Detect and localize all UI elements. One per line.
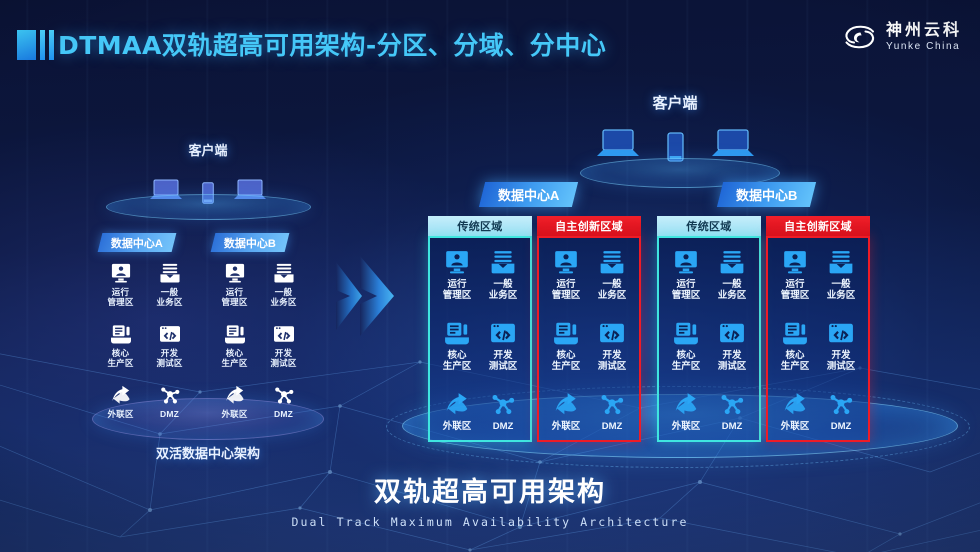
zone-label: 一般业务区 [598,279,627,302]
zone-dev-test[interactable]: 开发测试区 [589,321,635,373]
brand-logo: 神州云科 Yunke China [843,22,962,52]
panel-dc-b-innovation[interactable]: 自主创新区域 运行管理区 一般业务区 核心生产区 开发测试区 [766,216,870,442]
core-server-icon [224,324,246,344]
zone-label: 一般业务区 [827,279,856,302]
code-window-icon [159,324,181,344]
galaxy-swirl-icon [843,22,877,52]
panel-header: 自主创新区域 [766,216,870,236]
left-diagram-caption: 双活数据中心架构 [78,443,338,462]
zone-external[interactable]: 外联区 [434,392,480,432]
ops-monitor-icon [444,250,470,274]
right-dc-tab-b[interactable]: 数据中心B [717,182,817,207]
zone-label: 开发测试区 [489,350,518,373]
zone-label: DMZ [160,409,179,419]
right-dc-tab-a-label: 数据中心A [498,185,559,204]
panel-zone-grid: 运行管理区 一般业务区 核心生产区 开发测试区 外联区 [657,236,761,442]
zone-general-business[interactable]: 一般业务区 [480,250,526,302]
panel-zone-grid: 运行管理区 一般业务区 核心生产区 开发测试区 外联区 [428,236,532,442]
zone-label: 运行管理区 [221,287,247,307]
zone-label: 开发测试区 [156,348,182,368]
right-architecture-diagram: 客户端 数据中心A 数据中心B 传统区域 [400,86,960,506]
zone-dmz[interactable]: DMZ [259,385,308,419]
zone-dev-test[interactable]: 开发测试区 [259,324,308,368]
dmz-node-icon [828,392,854,416]
inbox-stack-icon [490,250,516,274]
zone-core-production[interactable]: 核心生产区 [663,321,709,373]
dmz-node-icon [599,392,625,416]
external-link-icon [673,392,699,416]
page-title: DTMAA双轨超高可用架构-分区、分域、分中心 [58,26,606,62]
left-dc-a-zone-grid: 运行管理区 一般业务区 核心生产区 开发测试区 外联区 DMZ [96,263,194,419]
zone-label: 核心生产区 [552,350,581,373]
zone-external[interactable]: 外联区 [210,385,259,419]
external-link-icon [224,385,246,405]
zone-general-business[interactable]: 一般业务区 [818,250,864,302]
left-architecture-diagram: 客户端 数据中心A 数据中心B [78,108,338,458]
zone-ops-mgmt[interactable]: 运行管理区 [96,263,145,307]
zone-external[interactable]: 外联区 [543,392,589,432]
panel-zone-grid: 运行管理区 一般业务区 核心生产区 开发测试区 外联区 [766,236,870,442]
dmz-node-icon [159,385,181,405]
inbox-stack-icon [599,250,625,274]
zone-label: 核心生产区 [443,350,472,373]
zone-label: DMZ [831,421,852,432]
core-server-icon [110,324,132,344]
core-server-icon [553,321,579,345]
zone-label: 外联区 [443,421,472,432]
zone-label: 外联区 [107,409,133,419]
core-server-icon [782,321,808,345]
bottom-caption: 双轨超高可用架构 Dual Track Maximum Availability… [0,470,980,529]
dmz-node-icon [273,385,295,405]
zone-label: DMZ [493,421,514,432]
core-server-icon [444,321,470,345]
inbox-stack-icon [273,263,295,283]
zone-label: 核心生产区 [107,348,133,368]
zone-label: 一般业务区 [156,287,182,307]
code-window-icon [599,321,625,345]
zone-label: 运行管理区 [443,279,472,302]
zone-general-business[interactable]: 一般业务区 [259,263,308,307]
logo-name-en: Yunke China [886,41,962,52]
right-dc-tab-b-label: 数据中心B [736,185,797,204]
zone-core-production[interactable]: 核心生产区 [210,324,259,368]
dmz-node-icon [719,392,745,416]
zone-label: 开发测试区 [718,350,747,373]
ops-monitor-icon [553,250,579,274]
external-link-icon [782,392,808,416]
left-dc-tab-a-label: 数据中心A [111,235,163,251]
double-chevron-right-icon [330,252,400,340]
zone-dmz[interactable]: DMZ [145,385,194,419]
left-dc-tab-b-label: 数据中心B [224,235,276,251]
zone-label: 一般业务区 [718,279,747,302]
zone-label: 核心生产区 [781,350,810,373]
laptop-icon [595,128,641,162]
zone-external[interactable]: 外联区 [663,392,709,432]
code-window-icon [490,321,516,345]
bottom-title-cn: 双轨超高可用架构 [0,470,980,509]
zone-ops-mgmt[interactable]: 运行管理区 [210,263,259,307]
zone-label: 一般业务区 [270,287,296,307]
ops-monitor-icon [782,250,808,274]
zone-label: 运行管理区 [672,279,701,302]
panel-dc-a-traditional[interactable]: 传统区域 运行管理区 一般业务区 核心生产区 开发测试区 [428,216,532,442]
code-window-icon [828,321,854,345]
header-accent-bars-icon [17,30,54,60]
right-client-label: 客户端 [545,92,805,113]
zone-dmz[interactable]: DMZ [818,392,864,432]
zone-label: 外联区 [221,409,247,419]
right-dc-tab-a[interactable]: 数据中心A [479,182,579,207]
zone-core-production[interactable]: 核心生产区 [96,324,145,368]
panel-dc-a-innovation[interactable]: 自主创新区域 运行管理区 一般业务区 核心生产区 开发测试区 [537,216,641,442]
zone-dmz[interactable]: DMZ [480,392,526,432]
panel-dc-b-traditional[interactable]: 传统区域 运行管理区 一般业务区 核心生产区 开发测试区 [657,216,761,442]
zone-ops-mgmt[interactable]: 运行管理区 [543,250,589,302]
core-server-icon [673,321,699,345]
right-client-devices [545,114,805,162]
panel-header: 自主创新区域 [537,216,641,236]
left-dc-b-zone-grid: 运行管理区 一般业务区 核心生产区 开发测试区 外联区 DMZ [210,263,308,419]
zone-dmz[interactable]: DMZ [589,392,635,432]
left-dc-tab-b[interactable]: 数据中心B [211,233,290,252]
zone-external[interactable]: 外联区 [772,392,818,432]
zone-label: DMZ [274,409,293,419]
zone-ops-mgmt[interactable]: 运行管理区 [663,250,709,302]
zone-dev-test[interactable]: 开发测试区 [480,321,526,373]
zone-general-business[interactable]: 一般业务区 [145,263,194,307]
zone-label: 运行管理区 [107,287,133,307]
zone-label: 一般业务区 [489,279,518,302]
laptop-icon [710,128,756,162]
external-link-icon [444,392,470,416]
bottom-title-en: Dual Track Maximum Availability Architec… [0,515,980,529]
zone-label: 运行管理区 [552,279,581,302]
zone-dev-test[interactable]: 开发测试区 [709,321,755,373]
zone-label: DMZ [602,421,623,432]
slide-header: DTMAA双轨超高可用架构-分区、分域、分中心 神州云科 Yunke China [0,0,980,80]
zone-label: DMZ [722,421,743,432]
zone-dev-test[interactable]: 开发测试区 [145,324,194,368]
logo-name-cn: 神州云科 [886,22,962,39]
left-client-label: 客户端 [78,140,338,159]
ops-monitor-icon [673,250,699,274]
zone-label: 开发测试区 [598,350,627,373]
zone-label: 运行管理区 [781,279,810,302]
zone-general-business[interactable]: 一般业务区 [589,250,635,302]
zone-core-production[interactable]: 核心生产区 [772,321,818,373]
panel-header: 传统区域 [428,216,532,236]
left-client-platform [106,194,311,220]
zone-label: 外联区 [672,421,701,432]
code-window-icon [719,321,745,345]
zone-general-business[interactable]: 一般业务区 [709,250,755,302]
zone-core-production[interactable]: 核心生产区 [434,321,480,373]
inbox-stack-icon [828,250,854,274]
zone-label: 核心生产区 [672,350,701,373]
zone-dmz[interactable]: DMZ [709,392,755,432]
zone-ops-mgmt[interactable]: 运行管理区 [434,250,480,302]
slide-canvas: DTMAA双轨超高可用架构-分区、分域、分中心 神州云科 Yunke China… [0,0,980,552]
dmz-node-icon [490,392,516,416]
code-window-icon [273,324,295,344]
zone-external[interactable]: 外联区 [96,385,145,419]
panel-header: 传统区域 [657,216,761,236]
ops-monitor-icon [224,263,246,283]
zone-label: 外联区 [781,421,810,432]
zone-label: 核心生产区 [221,348,247,368]
zone-dev-test[interactable]: 开发测试区 [818,321,864,373]
zone-label: 外联区 [552,421,581,432]
inbox-stack-icon [719,250,745,274]
inbox-stack-icon [159,263,181,283]
zone-core-production[interactable]: 核心生产区 [543,321,589,373]
external-link-icon [553,392,579,416]
panel-zone-grid: 运行管理区 一般业务区 核心生产区 开发测试区 外联区 [537,236,641,442]
left-dc-tab-a[interactable]: 数据中心A [98,233,177,252]
zone-label: 开发测试区 [270,348,296,368]
zone-ops-mgmt[interactable]: 运行管理区 [772,250,818,302]
external-link-icon [110,385,132,405]
ops-monitor-icon [110,263,132,283]
zone-label: 开发测试区 [827,350,856,373]
